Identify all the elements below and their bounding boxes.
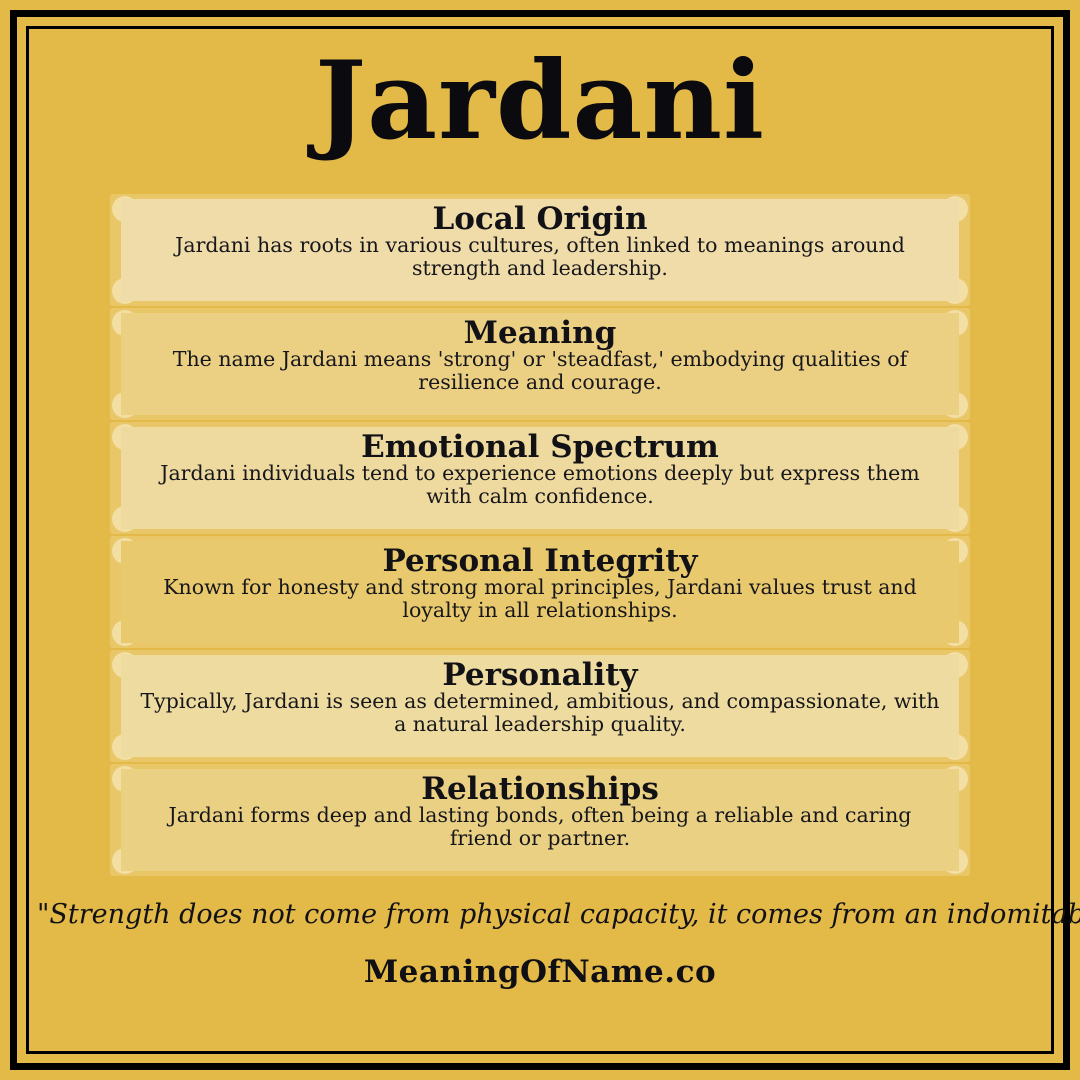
attribute-card-meaning: Meaning The name Jardani means 'strong' …	[110, 308, 970, 420]
card-description: The name Jardani means 'strong' or 'stea…	[135, 348, 945, 393]
poster-footer: "Strength does not come from physical ca…	[37, 900, 1043, 990]
card-description: Typically, Jardani is seen as determined…	[135, 690, 945, 735]
attribute-card-relationships: Relationships Jardani forms deep and las…	[110, 764, 970, 876]
attribute-card-list: Local Origin Jardani has roots in variou…	[110, 194, 970, 876]
poster-content: Jardani Local Origin Jardani has roots i…	[29, 29, 1051, 1051]
brand-wordmark: MeaningOfName.co	[37, 954, 1043, 990]
card-panel: Meaning The name Jardani means 'strong' …	[121, 313, 959, 415]
attribute-card-emotional-spectrum: Emotional Spectrum Jardani individuals t…	[110, 422, 970, 534]
card-panel: Local Origin Jardani has roots in variou…	[121, 199, 959, 301]
card-description: Known for honesty and strong moral princ…	[135, 576, 945, 621]
poster-canvas: Jardani Local Origin Jardani has roots i…	[0, 0, 1080, 1080]
card-panel: Personality Typically, Jardani is seen a…	[121, 655, 959, 757]
card-description: Jardani has roots in various cultures, o…	[135, 234, 945, 279]
card-heading: Relationships	[135, 774, 945, 806]
attribute-card-personal-integrity: Personal Integrity Known for honesty and…	[110, 536, 970, 648]
card-panel: Emotional Spectrum Jardani individuals t…	[121, 427, 959, 529]
attribute-card-personality: Personality Typically, Jardani is seen a…	[110, 650, 970, 762]
card-panel: Personal Integrity Known for honesty and…	[121, 541, 959, 643]
card-heading: Meaning	[135, 318, 945, 350]
attribute-card-local-origin: Local Origin Jardani has roots in variou…	[110, 194, 970, 306]
card-heading: Emotional Spectrum	[135, 432, 945, 464]
card-heading: Local Origin	[135, 204, 945, 236]
card-description: Jardani individuals tend to experience e…	[135, 462, 945, 507]
footer-quote: "Strength does not come from physical ca…	[37, 900, 1043, 930]
card-panel: Relationships Jardani forms deep and las…	[121, 769, 959, 871]
card-heading: Personal Integrity	[135, 546, 945, 578]
card-description: Jardani forms deep and lasting bonds, of…	[135, 804, 945, 849]
card-heading: Personality	[135, 660, 945, 692]
page-title: Jardani	[315, 29, 765, 158]
